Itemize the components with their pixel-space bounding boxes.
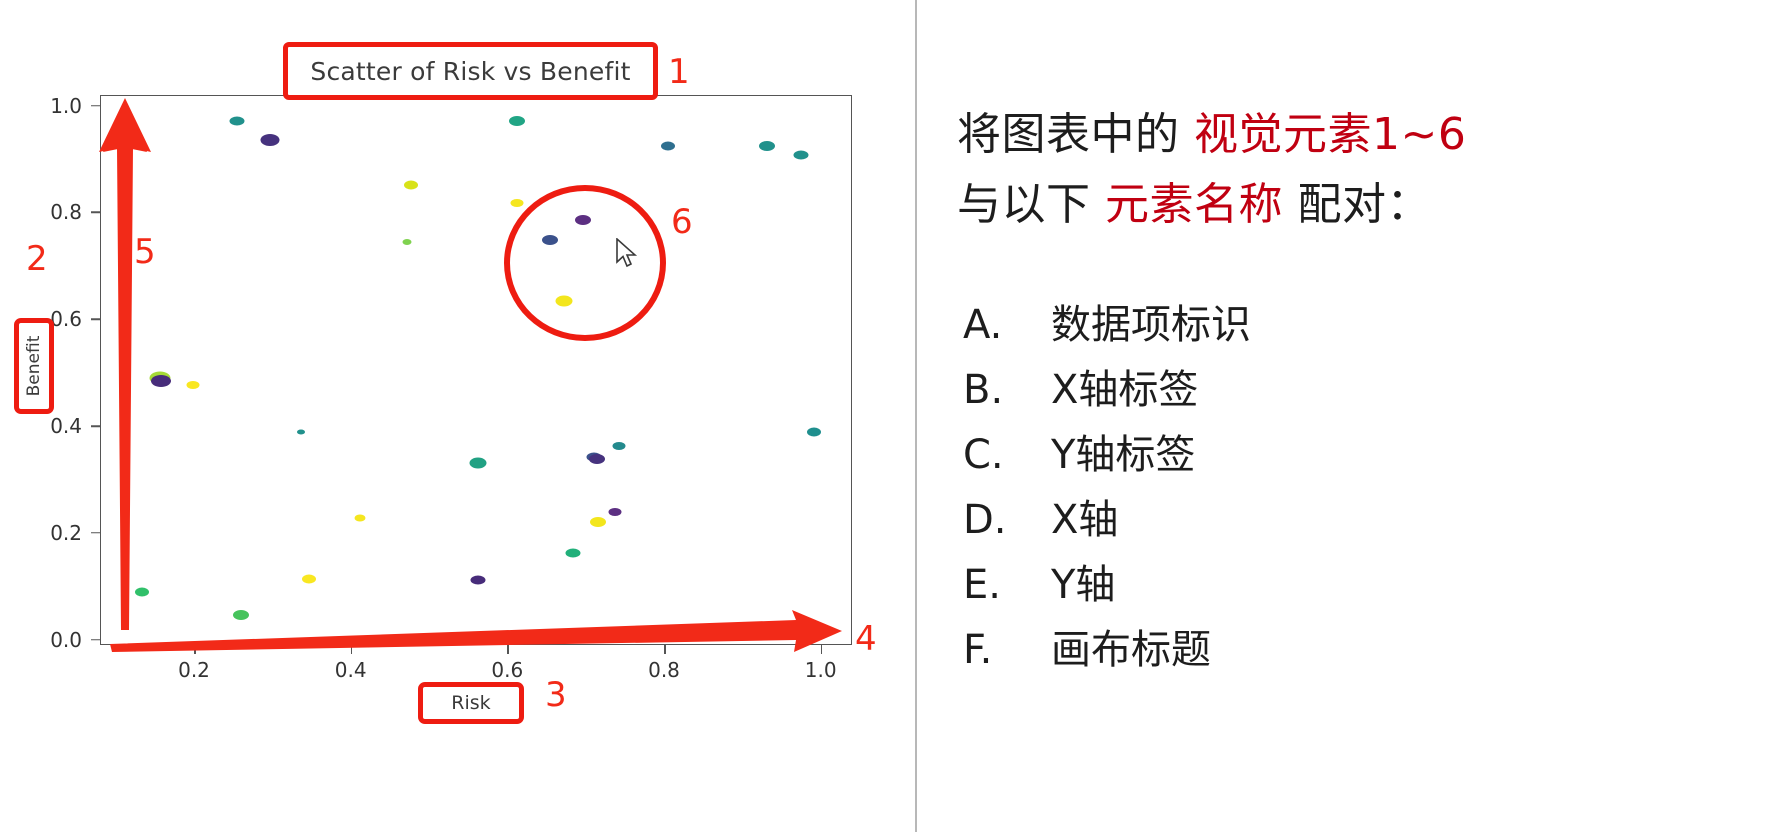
option-f[interactable]: F. 画布标题 xyxy=(963,617,1211,675)
data-point xyxy=(608,508,621,516)
y-axis-arrow-annotation xyxy=(95,96,155,632)
y-tick-label: 1.0 xyxy=(2,94,82,118)
chart-title: Scatter of Risk vs Benefit xyxy=(310,57,630,86)
data-point xyxy=(187,381,200,389)
question-line-2-suffix: 配对： xyxy=(1283,179,1431,230)
option-b-key: B. xyxy=(963,367,1051,413)
x-axis-label: Risk xyxy=(451,692,490,714)
option-c[interactable]: C. Y轴标签 xyxy=(963,422,1195,480)
data-point xyxy=(794,150,809,159)
data-point xyxy=(509,116,525,126)
y-tick-mark xyxy=(91,639,100,641)
data-point xyxy=(403,239,412,245)
data-point-circle-annotation xyxy=(504,185,666,341)
data-point xyxy=(404,180,418,189)
data-point xyxy=(302,574,316,583)
x-tick-label: 0.8 xyxy=(648,658,680,682)
option-d[interactable]: D. X轴 xyxy=(963,487,1118,545)
chart-panel: Scatter of Risk vs Benefit 1 Benefit 2 R… xyxy=(0,0,940,832)
option-f-key: F. xyxy=(963,627,1051,673)
data-point xyxy=(807,428,821,437)
data-point xyxy=(297,430,305,435)
option-d-text: X轴 xyxy=(1051,487,1118,545)
data-point xyxy=(260,134,279,146)
x-tick-label: 0.6 xyxy=(491,658,523,682)
option-b[interactable]: B. X轴标签 xyxy=(963,357,1198,415)
annotation-5: 5 xyxy=(134,235,156,269)
question-line-1-highlight: 视觉元素1~6 xyxy=(1194,109,1466,160)
question-line-2: 与以下 元素名称 配对： xyxy=(957,168,1431,232)
option-b-text: X轴标签 xyxy=(1051,357,1198,415)
x-tick-label: 0.2 xyxy=(178,658,210,682)
y-tick-label: 0.4 xyxy=(2,414,82,438)
data-point xyxy=(230,116,245,125)
option-a-key: A. xyxy=(963,302,1051,348)
mouse-cursor xyxy=(616,238,638,270)
x-axis-label-box: Risk xyxy=(418,682,524,724)
data-point xyxy=(590,517,606,527)
data-point xyxy=(759,141,775,151)
y-tick-label: 0.8 xyxy=(2,200,82,224)
data-point xyxy=(589,454,605,464)
option-f-text: 画布标题 xyxy=(1051,617,1211,675)
data-point xyxy=(510,199,523,207)
data-point xyxy=(612,442,625,450)
y-tick-label: 0.2 xyxy=(2,521,82,545)
option-c-key: C. xyxy=(963,432,1051,478)
x-tick-label: 1.0 xyxy=(805,658,837,682)
plot-area xyxy=(100,95,852,645)
option-e-key: E. xyxy=(963,562,1051,608)
y-axis-label-box: Benefit xyxy=(14,318,54,414)
x-axis-arrow-annotation xyxy=(106,608,846,656)
y-axis-label: Benefit xyxy=(24,336,44,397)
data-point xyxy=(469,457,486,468)
data-point xyxy=(470,575,485,584)
data-point xyxy=(355,514,366,521)
option-e-text: Y轴 xyxy=(1051,552,1115,610)
option-e[interactable]: E. Y轴 xyxy=(963,552,1115,610)
question-line-1: 将图表中的 视觉元素1~6 xyxy=(957,98,1466,162)
data-point xyxy=(566,548,581,557)
annotation-1: 1 xyxy=(668,55,690,89)
chart-title-box: Scatter of Risk vs Benefit xyxy=(283,42,658,100)
panel-divider xyxy=(915,0,917,832)
x-tick-label: 0.4 xyxy=(335,658,367,682)
option-a-text: 数据项标识 xyxy=(1051,292,1251,350)
question-line-2-highlight: 元素名称 xyxy=(1105,179,1283,230)
question-line-2-prefix: 与以下 xyxy=(957,179,1105,230)
data-point xyxy=(661,141,675,150)
annotation-3: 3 xyxy=(545,678,567,712)
question-line-1-prefix: 将图表中的 xyxy=(957,109,1194,160)
question-panel: 将图表中的 视觉元素1~6 与以下 元素名称 配对： A. 数据项标识 B. X… xyxy=(945,0,1782,832)
y-tick-label: 0.0 xyxy=(2,628,82,652)
annotation-2: 2 xyxy=(26,242,48,276)
annotation-4: 4 xyxy=(855,622,877,656)
option-a[interactable]: A. 数据项标识 xyxy=(963,292,1251,350)
annotation-6: 6 xyxy=(671,205,693,239)
option-c-text: Y轴标签 xyxy=(1051,422,1195,480)
screenshot-root: Scatter of Risk vs Benefit 1 Benefit 2 R… xyxy=(0,0,1782,832)
option-d-key: D. xyxy=(963,497,1051,543)
